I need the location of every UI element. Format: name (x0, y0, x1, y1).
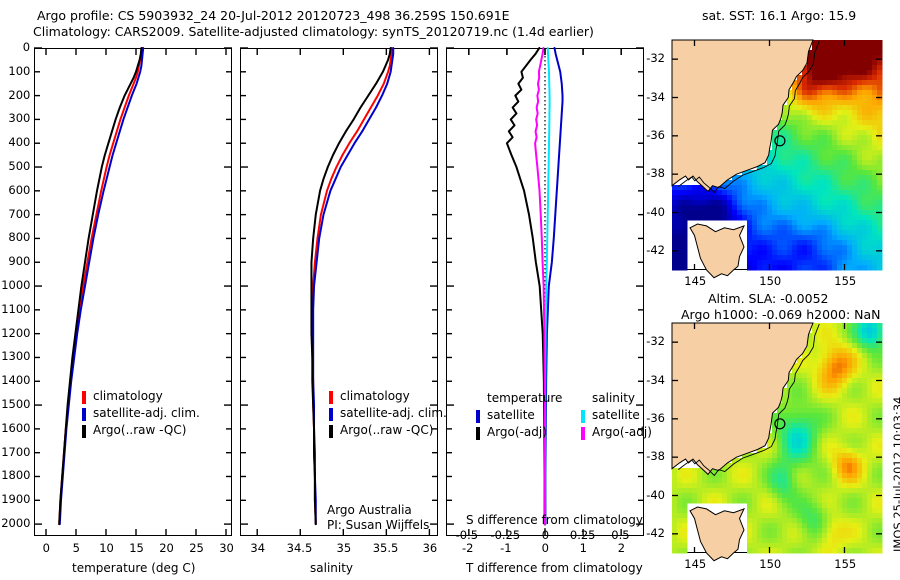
xtick-2: 2 (618, 541, 625, 555)
xtick-10: 10 (99, 541, 114, 555)
map-lat--32: -32 (646, 334, 665, 348)
s-difference-axis-label: S difference from climatology (466, 513, 643, 527)
depth-tick-500: 500 (8, 159, 30, 173)
xtick-35: 35 (337, 541, 352, 555)
xtick-0: 0 (542, 541, 549, 555)
depth-tick-1900: 1900 (1, 492, 30, 506)
map-lat--42: -42 (646, 526, 665, 540)
map-lat--42: -42 (646, 243, 665, 257)
sst-map-title: sat. SST: 16.1 Argo: 15.9 (702, 8, 856, 23)
depth-tick-900: 900 (8, 254, 30, 268)
figure-title-line1: Argo profile: CS 5903932_24 20-Jul-2012 … (37, 8, 510, 23)
depth-tick-200: 200 (8, 88, 30, 102)
xtick-1: 1 (580, 541, 587, 555)
sla-map-title-line1: Altim. SLA: -0.0052 (708, 291, 828, 306)
depth-tick-1100: 1100 (1, 302, 30, 316)
depth-tick-1000: 1000 (1, 278, 30, 292)
xtick-34: 34 (250, 541, 265, 555)
attribution-line1: Argo Australia (327, 503, 412, 517)
xtick-36: 36 (423, 541, 438, 555)
legend-swatch (581, 427, 585, 440)
map-lat--32: -32 (646, 51, 665, 65)
map-lat--38: -38 (646, 166, 665, 180)
map-lon-150: 150 (759, 557, 781, 571)
legend-swatch (476, 427, 480, 440)
xtick--2: -2 (462, 541, 473, 555)
legend-swatch (82, 408, 86, 421)
depth-tick-700: 700 (8, 207, 30, 221)
depth-tick-100: 100 (8, 64, 30, 78)
map-lon-145: 145 (684, 274, 706, 288)
attribution-line2: PI: Susan Wijffels (327, 518, 429, 532)
legend-label: climatology (93, 389, 163, 403)
xtick-30: 30 (219, 541, 234, 555)
map-lat--36: -36 (646, 411, 665, 425)
legend-label: Argo(-adj) (592, 425, 652, 439)
figure-title-line2: Climatology: CARS2009. Satellite-adjuste… (33, 24, 594, 39)
legend-swatch (82, 425, 86, 438)
legend-swatch (581, 410, 585, 423)
xtick-35.5: 35.5 (373, 541, 399, 555)
legend-swatch (476, 410, 480, 423)
stick--0.25: -0.25 (490, 528, 520, 542)
legend-swatch (329, 425, 333, 438)
depth-tick-2000: 2000 (1, 516, 30, 530)
sst-map-canvas (672, 40, 882, 270)
sla-map-canvas (672, 323, 882, 553)
depth-tick-1300: 1300 (1, 349, 30, 363)
map-lat--36: -36 (646, 128, 665, 142)
depth-tick-1400: 1400 (1, 373, 30, 387)
depth-tick-1700: 1700 (1, 445, 30, 459)
xtick-0: 0 (43, 541, 50, 555)
salinity-axis-ticks (240, 48, 438, 536)
legend-label: satellite (487, 408, 535, 422)
sla-map-title-line2: Argo h1000: -0.069 h2000: NaN (681, 307, 881, 322)
map-lon-150: 150 (759, 274, 781, 288)
xtick-5: 5 (73, 541, 80, 555)
legend-swatch (329, 408, 333, 421)
depth-tick-1500: 1500 (1, 397, 30, 411)
legend-label: climatology (340, 389, 410, 403)
temperature-axis-ticks (34, 48, 232, 536)
legend-label: Argo(..raw -QC) (340, 423, 433, 437)
legend-group-header: salinity (592, 391, 635, 405)
map-lat--40: -40 (646, 205, 665, 219)
legend-group-header: temperature (487, 391, 562, 405)
legend-label: satellite-adj. clim. (340, 406, 447, 420)
xtick-25: 25 (189, 541, 204, 555)
depth-tick-300: 300 (8, 111, 30, 125)
stick-0.5: 0.5 (611, 528, 629, 542)
map-lon-155: 155 (834, 274, 856, 288)
depth-tick-1800: 1800 (1, 468, 30, 482)
legend-swatch (329, 391, 333, 404)
map-lat--38: -38 (646, 449, 665, 463)
salinity-axis-label: salinity (310, 561, 353, 575)
t-difference-axis-label: T difference from climatology (466, 561, 643, 575)
depth-tick-1200: 1200 (1, 326, 30, 340)
depth-tick-0: 0 (23, 40, 30, 54)
difference-axis-ticks (446, 48, 644, 536)
depth-tick-800: 800 (8, 230, 30, 244)
xtick-15: 15 (129, 541, 144, 555)
stick-0: 0 (542, 528, 549, 542)
map-lat--40: -40 (646, 488, 665, 502)
legend-swatch (82, 391, 86, 404)
legend-label: Argo(..raw -QC) (93, 423, 186, 437)
xtick-20: 20 (159, 541, 174, 555)
temperature-axis-label: temperature (deg C) (72, 561, 195, 575)
imos-credit: IMOS 25-Jul-2012 10:03:34 (891, 397, 900, 552)
legend-label: Argo(-adj) (487, 425, 547, 439)
depth-tick-600: 600 (8, 183, 30, 197)
stick--0.5: -0.5 (456, 528, 478, 542)
xtick--1: -1 (500, 541, 511, 555)
legend-label: satellite-adj. clim. (93, 406, 200, 420)
map-lon-155: 155 (834, 557, 856, 571)
legend-label: satellite (592, 408, 640, 422)
stick-0.25: 0.25 (570, 528, 596, 542)
xtick-34.5: 34.5 (287, 541, 313, 555)
map-lat--34: -34 (646, 373, 665, 387)
map-lat--34: -34 (646, 90, 665, 104)
depth-tick-400: 400 (8, 135, 30, 149)
map-lon-145: 145 (684, 557, 706, 571)
depth-tick-1600: 1600 (1, 421, 30, 435)
